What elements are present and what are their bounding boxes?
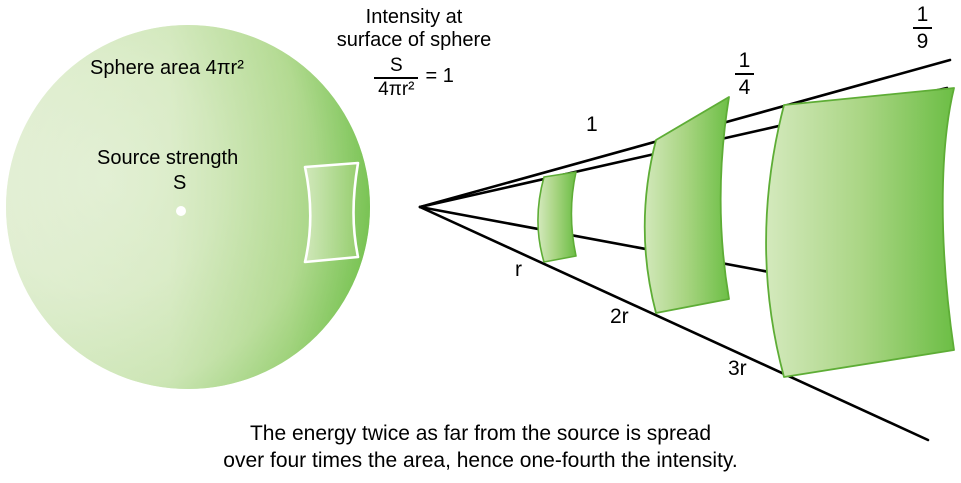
wavefront-band-r — [538, 172, 576, 262]
intensity-fraction: S 4πr² — [374, 56, 418, 100]
intensity-equals-value: = 1 — [425, 65, 453, 90]
caption-line-2: over four times the area, hence one-four… — [0, 448, 961, 475]
intensity-numerator: S — [386, 56, 407, 76]
caption-line-1: The energy twice as far from the source … — [0, 421, 961, 448]
intensity-label-3r: 1 9 — [913, 4, 932, 52]
intensity-equation: S 4πr² = 1 — [325, 56, 503, 100]
fraction-bar-icon — [735, 73, 754, 75]
distance-label-r: r — [515, 258, 522, 282]
source-point-dot — [176, 206, 186, 216]
source-strength-label: Source strength — [97, 147, 238, 169]
intensity-line-2: surface of sphere — [325, 29, 503, 52]
intensity-denominator: 4πr² — [374, 80, 418, 100]
sphere-solid-angle-patch — [305, 163, 358, 262]
intensity-label-2r: 1 4 — [735, 50, 754, 98]
distance-label-2r: 2r — [610, 305, 629, 329]
wavefront-band-2r — [645, 97, 729, 313]
distance-label-3r: 3r — [728, 357, 747, 381]
inverse-square-law-figure: Sphere area 4πr² Source strength S Inten… — [0, 0, 961, 483]
intensity-label-3r-denominator: 9 — [917, 31, 929, 52]
intensity-label-3r-numerator: 1 — [917, 4, 929, 25]
intensity-label-r: 1 — [586, 113, 598, 137]
source-strength-symbol: S — [173, 172, 186, 194]
intensity-label-2r-denominator: 4 — [739, 77, 751, 98]
figure-caption: The energy twice as far from the source … — [0, 421, 961, 475]
sphere-area-label: Sphere area 4πr² — [90, 57, 244, 79]
wavefront-band-3r — [766, 88, 954, 377]
intensity-line-1: Intensity at — [325, 6, 503, 29]
intensity-formula-block: Intensity at surface of sphere S 4πr² = … — [325, 6, 503, 100]
fraction-bar-icon — [913, 27, 932, 29]
intensity-label-2r-numerator: 1 — [739, 50, 751, 71]
